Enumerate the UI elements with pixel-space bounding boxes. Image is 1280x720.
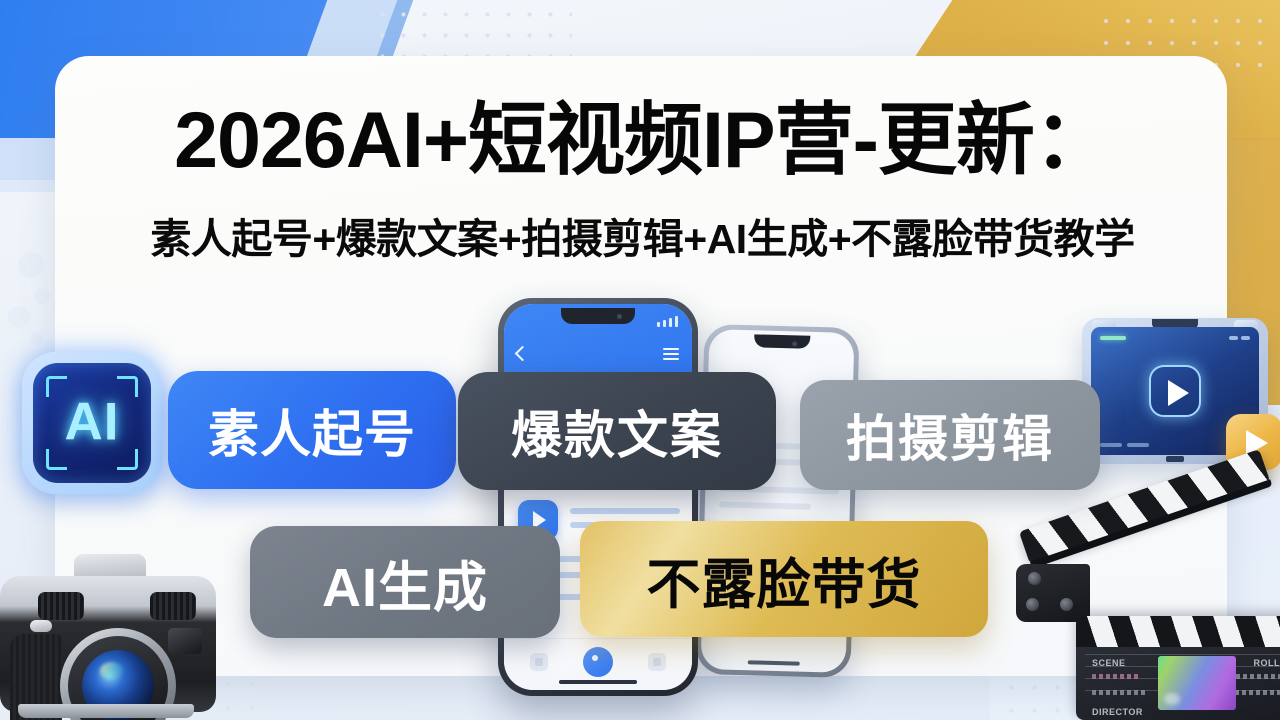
clapper-scribble xyxy=(1236,674,1280,679)
camera-shutter-button xyxy=(30,620,52,632)
feature-pill-ai生成[interactable]: AI生成 xyxy=(250,526,560,638)
tab-icon-left[interactable] xyxy=(530,653,548,671)
clapper-scribble xyxy=(1092,690,1148,695)
clapper-stripes xyxy=(1076,616,1280,647)
placeholder-line xyxy=(719,501,811,509)
clapper-scribble xyxy=(1092,674,1140,679)
device-speaker xyxy=(1166,456,1184,462)
placeholder-line xyxy=(570,508,680,514)
camera-dial-right xyxy=(150,592,196,620)
status-dots xyxy=(1229,336,1250,340)
phone-notch xyxy=(754,334,810,348)
camera-viewfinder xyxy=(168,628,202,654)
page-title: 2026AI+短视频IP营-更新： xyxy=(78,96,1208,184)
clapper-color-chart xyxy=(1158,656,1236,710)
camera-body xyxy=(0,576,216,712)
ai-scan-icon: AI xyxy=(22,352,162,494)
clapper-label-scene: SCENE xyxy=(1092,658,1126,668)
dslr-camera-icon xyxy=(0,548,224,720)
clapper-hinge xyxy=(1016,564,1090,622)
camera-base xyxy=(18,704,194,718)
phone-notch xyxy=(561,308,635,324)
ai-icon-inner: AI xyxy=(33,363,151,483)
feature-pill-拍摄剪辑[interactable]: 拍摄剪辑 xyxy=(800,380,1100,490)
dot-grid-pattern xyxy=(372,4,572,60)
ai-label: AI xyxy=(33,391,151,452)
feature-pill-不露脸带货[interactable]: 不露脸带货 xyxy=(580,521,988,637)
hinge-screw xyxy=(1026,598,1039,611)
status-bar-indicator xyxy=(1100,336,1126,340)
tab-icon-center[interactable] xyxy=(583,647,613,677)
feature-pill-素人起号[interactable]: 素人起号 xyxy=(168,371,456,489)
decorative-blob xyxy=(34,288,50,304)
camera-dial-left xyxy=(38,592,84,620)
camera-dot-icon xyxy=(792,341,797,346)
hamburger-menu-icon[interactable] xyxy=(663,348,679,360)
decorative-blob xyxy=(18,252,44,278)
clapper-label-director: DIRECTOR xyxy=(1092,707,1143,717)
home-indicator xyxy=(559,680,637,684)
clapper-slate: SCENE TAKE ROLL DIRECTOR xyxy=(1076,616,1280,720)
camera-dot-icon xyxy=(617,314,622,319)
clapper-label-roll: ROLL xyxy=(1254,658,1280,668)
decorative-blob xyxy=(8,306,30,328)
lens-flare xyxy=(100,662,124,680)
decorative-blob xyxy=(30,332,43,345)
feature-pill-爆款文案[interactable]: 爆款文案 xyxy=(458,372,776,490)
signal-strength-icon xyxy=(657,316,678,327)
caption-lines xyxy=(1100,443,1149,447)
page-subtitle: 素人起号+爆款文案+拍摄剪辑+AI生成+不露脸带货教学 xyxy=(60,212,1225,266)
hinge-screw xyxy=(1028,572,1041,585)
home-indicator xyxy=(747,660,799,665)
tab-icon-right[interactable] xyxy=(648,653,666,671)
poster-canvas: 2026AI+短视频IP营-更新： 素人起号+爆款文案+拍摄剪辑+AI生成+不露… xyxy=(0,0,1280,720)
play-icon[interactable] xyxy=(1149,365,1201,417)
hinge-screw xyxy=(1060,598,1073,611)
clapperboard-icon: SCENE TAKE ROLL DIRECTOR xyxy=(1010,486,1280,720)
